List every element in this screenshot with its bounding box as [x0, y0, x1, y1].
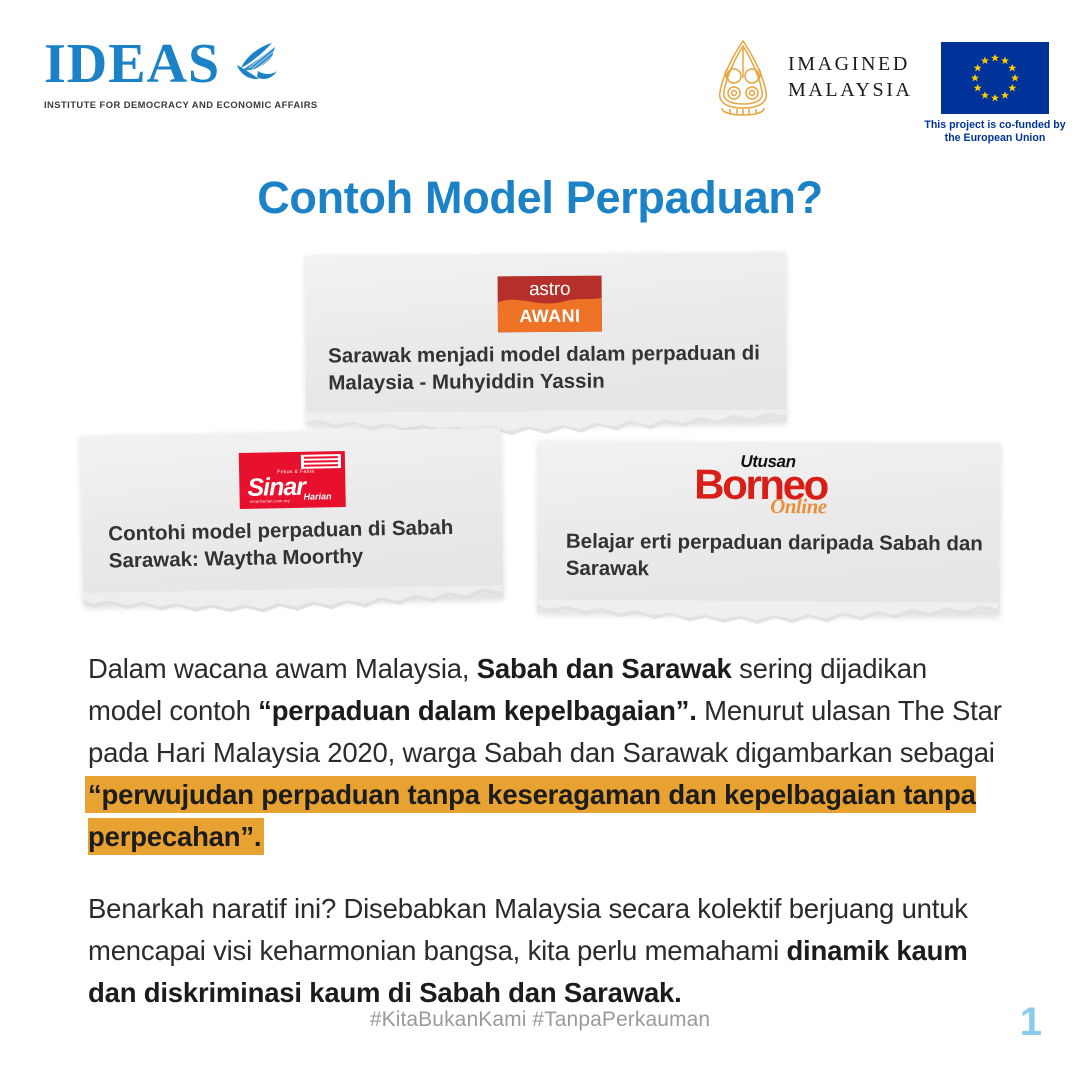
eu-funding-block: This project is co-funded by the Europea… — [920, 42, 1070, 145]
astro-brand-text: astro — [498, 279, 602, 302]
body-content: Dalam wacana awam Malaysia, Sabah dan Sa… — [88, 648, 1008, 1014]
header: IDEAS INSTITUTE FOR DEMOCRACY AND — [0, 0, 1080, 150]
awani-brand-text: AWANI — [498, 306, 602, 328]
footer-hashtags: #KitaBukanKami #TanpaPerkauman — [0, 1008, 1080, 1032]
news-clipping-sinar-harian: Fokus & Fakta Sinar Harian sinarharian.c… — [80, 428, 503, 606]
sinar-award-badge — [301, 454, 341, 469]
torn-paper-edge — [83, 585, 503, 619]
eu-caption-line-1: This project is co-funded by — [920, 119, 1070, 132]
paragraph-2: Benarkah naratif ini? Disebabkan Malaysi… — [88, 888, 1008, 1014]
ideas-logo: IDEAS INSTITUTE FOR DEMOCRACY AND — [44, 36, 334, 110]
page-number: 1 — [1020, 1000, 1042, 1045]
torn-paper-edge — [537, 600, 999, 629]
page-title: Contoh Model Perpaduan? — [0, 172, 1080, 224]
utusan-borneo-logo: Utusan Borneo Online — [692, 450, 860, 519]
p1-highlighted-quote: “perwujudan perpaduan tanpa keseragaman … — [88, 779, 976, 852]
ideas-wordmark: IDEAS — [44, 36, 220, 92]
astro-awani-logo: astro AWANI — [498, 276, 602, 333]
clipping-headline: Sarawak menjadi model dalam perpaduan di… — [328, 340, 768, 396]
imagined-malaysia-logo: IMAGINED MALAYSIA — [712, 38, 913, 118]
paragraph-1: Dalam wacana awam Malaysia, Sabah dan Sa… — [88, 648, 1008, 858]
im-line-1: IMAGINED — [788, 52, 913, 78]
footer: #KitaBukanKami #TanpaPerkauman 1 — [0, 1008, 1080, 1052]
p1-seg1: Dalam wacana awam Malaysia, — [88, 653, 477, 684]
clipping-headline: Belajar erti perpaduan daripada Sabah da… — [566, 529, 986, 585]
european-union-flag-icon — [941, 42, 1049, 114]
news-clipping-utusan-borneo: Utusan Borneo Online Belajar erti perpad… — [537, 441, 1000, 616]
news-clipping-astro-awani: astro AWANI Sarawak menjadi model dalam … — [305, 252, 786, 425]
online-brand-text: Online — [770, 494, 827, 519]
harian-brand-text: Harian — [304, 491, 332, 502]
sinar-harian-logo: Fokus & Fakta Sinar Harian sinarharian.c… — [239, 451, 346, 509]
clipping-headline: Contohi model perpaduan di Sabah Sarawak… — [108, 514, 489, 575]
ideas-leaf-icon — [228, 41, 280, 87]
infographic-slide: IDEAS INSTITUTE FOR DEMOCRACY AND — [0, 0, 1080, 1080]
im-line-2: MALAYSIA — [788, 78, 913, 104]
news-clippings-group: astro AWANI Sarawak menjadi model dalam … — [0, 246, 1080, 636]
eu-funding-caption: This project is co-funded by the Europea… — [920, 119, 1070, 145]
gunungan-ornament-icon — [712, 38, 774, 118]
imagined-malaysia-wordmark: IMAGINED MALAYSIA — [788, 52, 913, 103]
p1-bold1: Sabah dan Sarawak — [477, 653, 732, 684]
ideas-tagline: INSTITUTE FOR DEMOCRACY AND ECONOMIC AFF… — [44, 99, 334, 110]
p1-bold2: “perpaduan dalam kepelbagaian”. — [258, 695, 697, 726]
sinar-brand-url: sinarharian.com.my — [250, 498, 290, 504]
eu-caption-line-2: the European Union — [920, 132, 1070, 145]
